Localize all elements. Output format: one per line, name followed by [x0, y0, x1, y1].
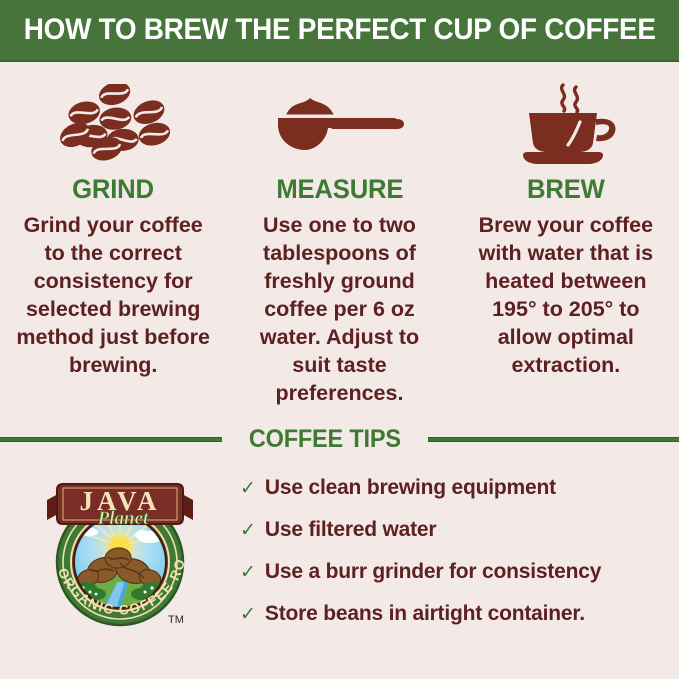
coffee-tips-divider: COFFEE TIPS — [0, 424, 679, 454]
check-icon: ✓ — [240, 521, 256, 540]
step-body-grind: Grind your coffee to the correct consist… — [12, 212, 214, 380]
coffee-cup-icon — [501, 84, 631, 164]
step-heading-grind: GRIND — [72, 174, 154, 205]
bottom-area: ORGANIC COFFEE ROASTERS JAVA Planet TM ✓… — [0, 462, 679, 679]
list-item: ✓ Store beans in airtight container. — [240, 602, 679, 626]
steps-row: GRIND Grind your coffee to the correct c… — [0, 62, 679, 408]
check-icon: ✓ — [240, 605, 256, 624]
page-title: HOW TO BREW THE PERFECT CUP OF COFFEE — [24, 13, 656, 47]
check-icon: ✓ — [240, 479, 256, 498]
step-column-measure: MEASURE Use one to two tablespoons of fr… — [226, 84, 452, 408]
list-item: ✓ Use clean brewing equipment — [240, 476, 679, 500]
step-body-measure: Use one to two tablespoons of freshly gr… — [238, 212, 440, 408]
logo-brand-script: Planet — [96, 508, 148, 529]
coffee-tips-list: ✓ Use clean brewing equipment ✓ Use filt… — [240, 462, 679, 679]
trademark-mark: TM — [168, 614, 184, 626]
coffee-tips-title: COFFEE TIPS — [228, 425, 421, 454]
tip-text: Use clean brewing equipment — [265, 476, 556, 500]
divider-rule-left — [0, 437, 222, 442]
step-column-brew: BREW Brew your coffee with water that is… — [453, 84, 679, 408]
step-heading-measure: MEASURE — [276, 174, 403, 205]
header-banner: HOW TO BREW THE PERFECT CUP OF COFFEE — [0, 0, 679, 62]
measuring-spoon-icon — [264, 84, 414, 164]
tip-text: Store beans in airtight container. — [265, 602, 585, 626]
divider-rule-right — [428, 437, 679, 442]
list-item: ✓ Use filtered water — [240, 518, 679, 542]
coffee-beans-icon — [48, 84, 178, 164]
tip-text: Use a burr grinder for consistency — [265, 560, 601, 584]
check-icon: ✓ — [240, 563, 256, 582]
step-heading-brew: BREW — [527, 174, 605, 205]
step-body-brew: Brew your coffee with water that is heat… — [465, 212, 667, 380]
tip-text: Use filtered water — [265, 518, 436, 542]
list-item: ✓ Use a burr grinder for consistency — [240, 560, 679, 584]
logo-ribbon: JAVA Planet — [47, 484, 193, 529]
brand-logo: ORGANIC COFFEE ROASTERS JAVA Planet TM — [0, 462, 240, 679]
step-column-grind: GRIND Grind your coffee to the correct c… — [0, 84, 226, 408]
